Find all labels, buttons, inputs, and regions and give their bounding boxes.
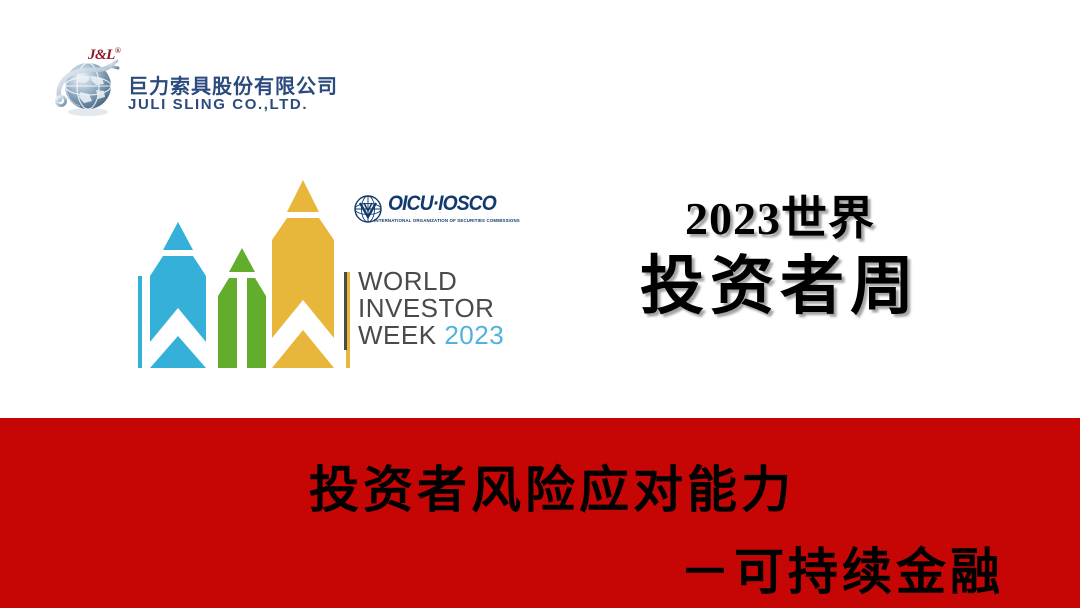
wiw-line-week: WEEK 2023 — [358, 322, 508, 349]
pencils-graphic — [138, 172, 356, 372]
wiw-week-label: WEEK — [358, 320, 437, 350]
iosco-logo: OICU·IOSCO INTERNATIONAL ORGANIZATION OF… — [352, 192, 504, 236]
wiw-vertical-divider — [344, 272, 347, 350]
wiw-line-investor: INVESTOR — [358, 295, 508, 322]
banner-line-2: －可持续金融 — [680, 532, 1004, 604]
iosco-wordmark: OICU·IOSCO — [388, 192, 496, 216]
pencil-cyan — [150, 222, 206, 368]
banner-line-1: 投资者风险应对能力 — [0, 450, 1080, 522]
pencil-green — [218, 248, 266, 368]
company-logo: J&L® 巨力索具股份有限公司 JULI SLING CO.,LTD. — [52, 46, 322, 126]
heading-line-1: 2023世界 — [560, 190, 1000, 248]
heading-line-2: 投资者周 — [560, 248, 1000, 326]
wiw-text-block: WORLD INVESTOR WEEK 2023 — [358, 268, 508, 349]
pencil-yellow — [272, 180, 334, 368]
wiw-year-label: 2023 — [444, 320, 504, 350]
registered-symbol: ® — [115, 46, 120, 55]
wiw-line-world: WORLD — [358, 268, 508, 295]
brand-mark-jl: J&L® — [88, 46, 120, 64]
world-investor-week-logo: OICU·IOSCO INTERNATIONAL ORGANIZATION OF… — [138, 172, 508, 372]
main-heading: 2023世界 投资者周 — [560, 190, 1000, 326]
brand-mark-text: J&L — [88, 47, 115, 63]
red-banner: 投资者风险应对能力 －可持续金融 — [0, 418, 1080, 608]
company-name-en: JULI SLING CO.,LTD. — [128, 96, 308, 113]
company-name-cn: 巨力索具股份有限公司 — [128, 70, 338, 99]
divider-bar-cyan — [138, 276, 142, 368]
iosco-tagline: INTERNATIONAL ORGANIZATION OF SECURITIES… — [374, 218, 520, 223]
